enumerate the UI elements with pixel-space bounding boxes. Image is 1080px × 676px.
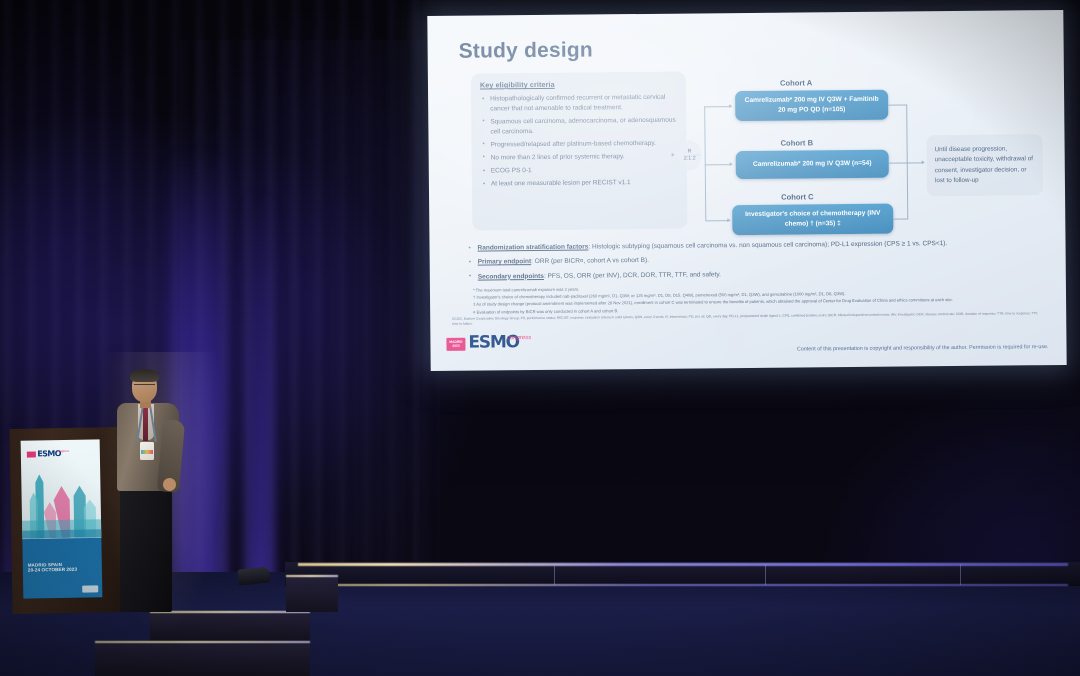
stage-panel-seam [765, 564, 766, 585]
podium-dates: 20-24 OCTOBER 2023 [28, 567, 77, 573]
copyright-notice: Content of this presentation is copyrigh… [797, 344, 1049, 352]
stage-edge-light [298, 563, 1068, 566]
stage-step-lower [95, 642, 310, 676]
podium-sponsor-mark [82, 585, 98, 592]
randomization-ratio: 2:1:2 [684, 155, 696, 162]
stage-panel-seam [960, 564, 961, 585]
bullet-lead: Primary endpoint [478, 258, 532, 266]
blue-stage-light-2 [246, 190, 274, 610]
cohort-c-box: Investigator's choice of chemotherapy (I… [732, 204, 893, 236]
treatment-duration-box: Until disease progression, unacceptable … [926, 134, 1043, 196]
slide-title: Study design [459, 38, 593, 63]
arrow-head-icon [730, 162, 733, 166]
stage-edge-light-lower [298, 584, 1068, 586]
cohort-a-label: Cohort A [780, 78, 812, 87]
esmo-madrid-badge: MADRID 2023 [446, 338, 465, 351]
key-eligibility-box: Key eligibility criteria Histopathologic… [471, 72, 687, 231]
esmo-congress-suffix: congress [507, 335, 531, 341]
stage-step-edge [286, 575, 338, 577]
speaker-glasses [134, 384, 155, 389]
bullet-rest: : Histologic subtyping (squamous cell ca… [588, 240, 947, 250]
cohort-b-box: Camrelizumab* 200 mg IV Q3W (n=54) [736, 150, 889, 179]
esmo-logo: MADRID 2023 ESMO congress [446, 335, 531, 351]
list-item: Progressed/relapsed after platinum-based… [481, 139, 677, 151]
stage-step-upper [150, 612, 310, 642]
stage-step-edge [95, 641, 310, 643]
connector-line [888, 104, 907, 105]
bullet-primary-endpoint: Primary endpoint: ORR (per BICR¤, cohort… [466, 252, 1046, 268]
bullet-secondary-endpoints: Secondary endpoints: PFS, OS, ORR (per I… [466, 267, 1046, 283]
list-item: At least one measurable lesion per RECIS… [481, 178, 677, 190]
connector-line [907, 162, 922, 163]
badge-line-2: 2023 [452, 344, 459, 348]
connector-line [893, 218, 908, 219]
cohort-a-box: Camrelizumab* 200 mg IV Q3W + Famitinib … [735, 90, 888, 121]
stage-step-side [286, 576, 338, 612]
list-item: No more than 2 lines of prior systemic t… [481, 152, 677, 164]
conference-photo: Study design Key eligibility criteria Hi… [0, 0, 1080, 676]
cohort-c-label: Cohort C [781, 192, 814, 201]
speaker-legs [120, 487, 172, 612]
randomization-node: R 2:1:2 [678, 140, 702, 170]
bullet-rest: : PFS, OS, ORR (per INV), DCR, DOR, TTR,… [544, 271, 721, 280]
cohort-b-label: Cohort B [781, 138, 814, 147]
speaker-badge-stripe [141, 450, 153, 454]
endpoints-bullets: Randomization stratification factors: Hi… [465, 238, 1045, 286]
bullet-randomization: Randomization stratification factors: Hi… [465, 238, 1045, 254]
podium-banner-text: MADRID SPAIN 20-24 OCTOBER 2023 [28, 562, 77, 573]
speaker-tie [143, 407, 148, 441]
bullet-rest: : ORR (per BICR¤, cohort A vs cohort B). [531, 257, 649, 265]
madrid-skyline-illustration [21, 459, 101, 538]
eligibility-list: Histopathologically confirmed recurrent … [480, 93, 677, 190]
blue-stage-light [170, 150, 225, 620]
podium-madrid-badge [27, 451, 36, 457]
speaker-hair [130, 369, 159, 382]
connector-line [889, 162, 908, 163]
podium-congress-suffix: congress [57, 449, 69, 453]
stage-monitor-speaker [237, 566, 270, 585]
stage-panel-seam [554, 564, 555, 585]
bullet-lead: Randomization stratification factors [478, 244, 589, 252]
list-item: ECOG PS 0-1 [481, 165, 677, 177]
projected-slide: Study design Key eligibility criteria Hi… [427, 10, 1066, 371]
arrow-head-icon [727, 218, 730, 222]
arrow-head-icon [729, 104, 732, 108]
eligibility-heading: Key eligibility criteria [480, 79, 676, 90]
arrow-head-icon [672, 153, 675, 157]
list-item: Squamous cell carcinoma, adenocarcinoma,… [480, 116, 676, 138]
podium-banner: ESMO congress MADRID SPAIN 20-24 OCTOBER… [21, 439, 103, 598]
arrow-head-icon [922, 160, 925, 164]
bullet-lead: Secondary endpoints [478, 272, 544, 280]
connector-line [704, 106, 729, 107]
speaker-hand [163, 478, 176, 491]
podium-esmo-logo: ESMO congress [27, 449, 69, 458]
list-item: Histopathologically confirmed recurrent … [480, 93, 676, 115]
connector-line [705, 164, 730, 165]
